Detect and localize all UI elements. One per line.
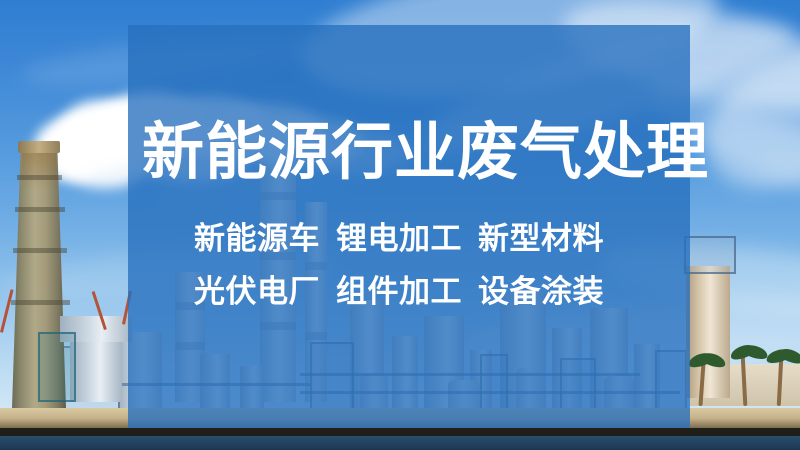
subtitle-tag-equipment-coating: 设备涂装 <box>478 274 604 310</box>
silo-headframe <box>684 236 736 274</box>
subtitle-line-1: 新能源车锂电加工新型材料 <box>194 224 664 255</box>
smokestack-band <box>11 300 70 305</box>
subtitle-tag-component-processing: 组件加工 <box>336 274 462 310</box>
water <box>0 436 800 450</box>
pipe-rack <box>38 332 76 402</box>
page-title: 新能源行业废气处理 <box>142 121 682 183</box>
subtitle-tag-new-energy-vehicle: 新能源车 <box>194 221 320 257</box>
smokestack-rust <box>22 150 56 190</box>
storage-silo <box>686 266 730 398</box>
subtitle-tag-photovoltaic-plant: 光伏电厂 <box>194 274 320 310</box>
smokestack-band <box>15 207 65 212</box>
subtitle-tag-new-materials: 新型材料 <box>478 221 604 257</box>
smokestack-band <box>13 248 67 253</box>
promo-banner: 新能源行业废气处理 新能源车锂电加工新型材料 光伏电厂组件加工设备涂装 <box>0 0 800 450</box>
text-layer: 新能源行业废气处理 新能源车锂电加工新型材料 光伏电厂组件加工设备涂装 <box>128 25 690 428</box>
smokestack-cap <box>18 141 60 153</box>
subtitle-line-2: 光伏电厂组件加工设备涂装 <box>194 277 664 308</box>
subtitle-tag-lithium-battery-processing: 锂电加工 <box>336 221 462 257</box>
smokestack-band <box>17 175 62 180</box>
